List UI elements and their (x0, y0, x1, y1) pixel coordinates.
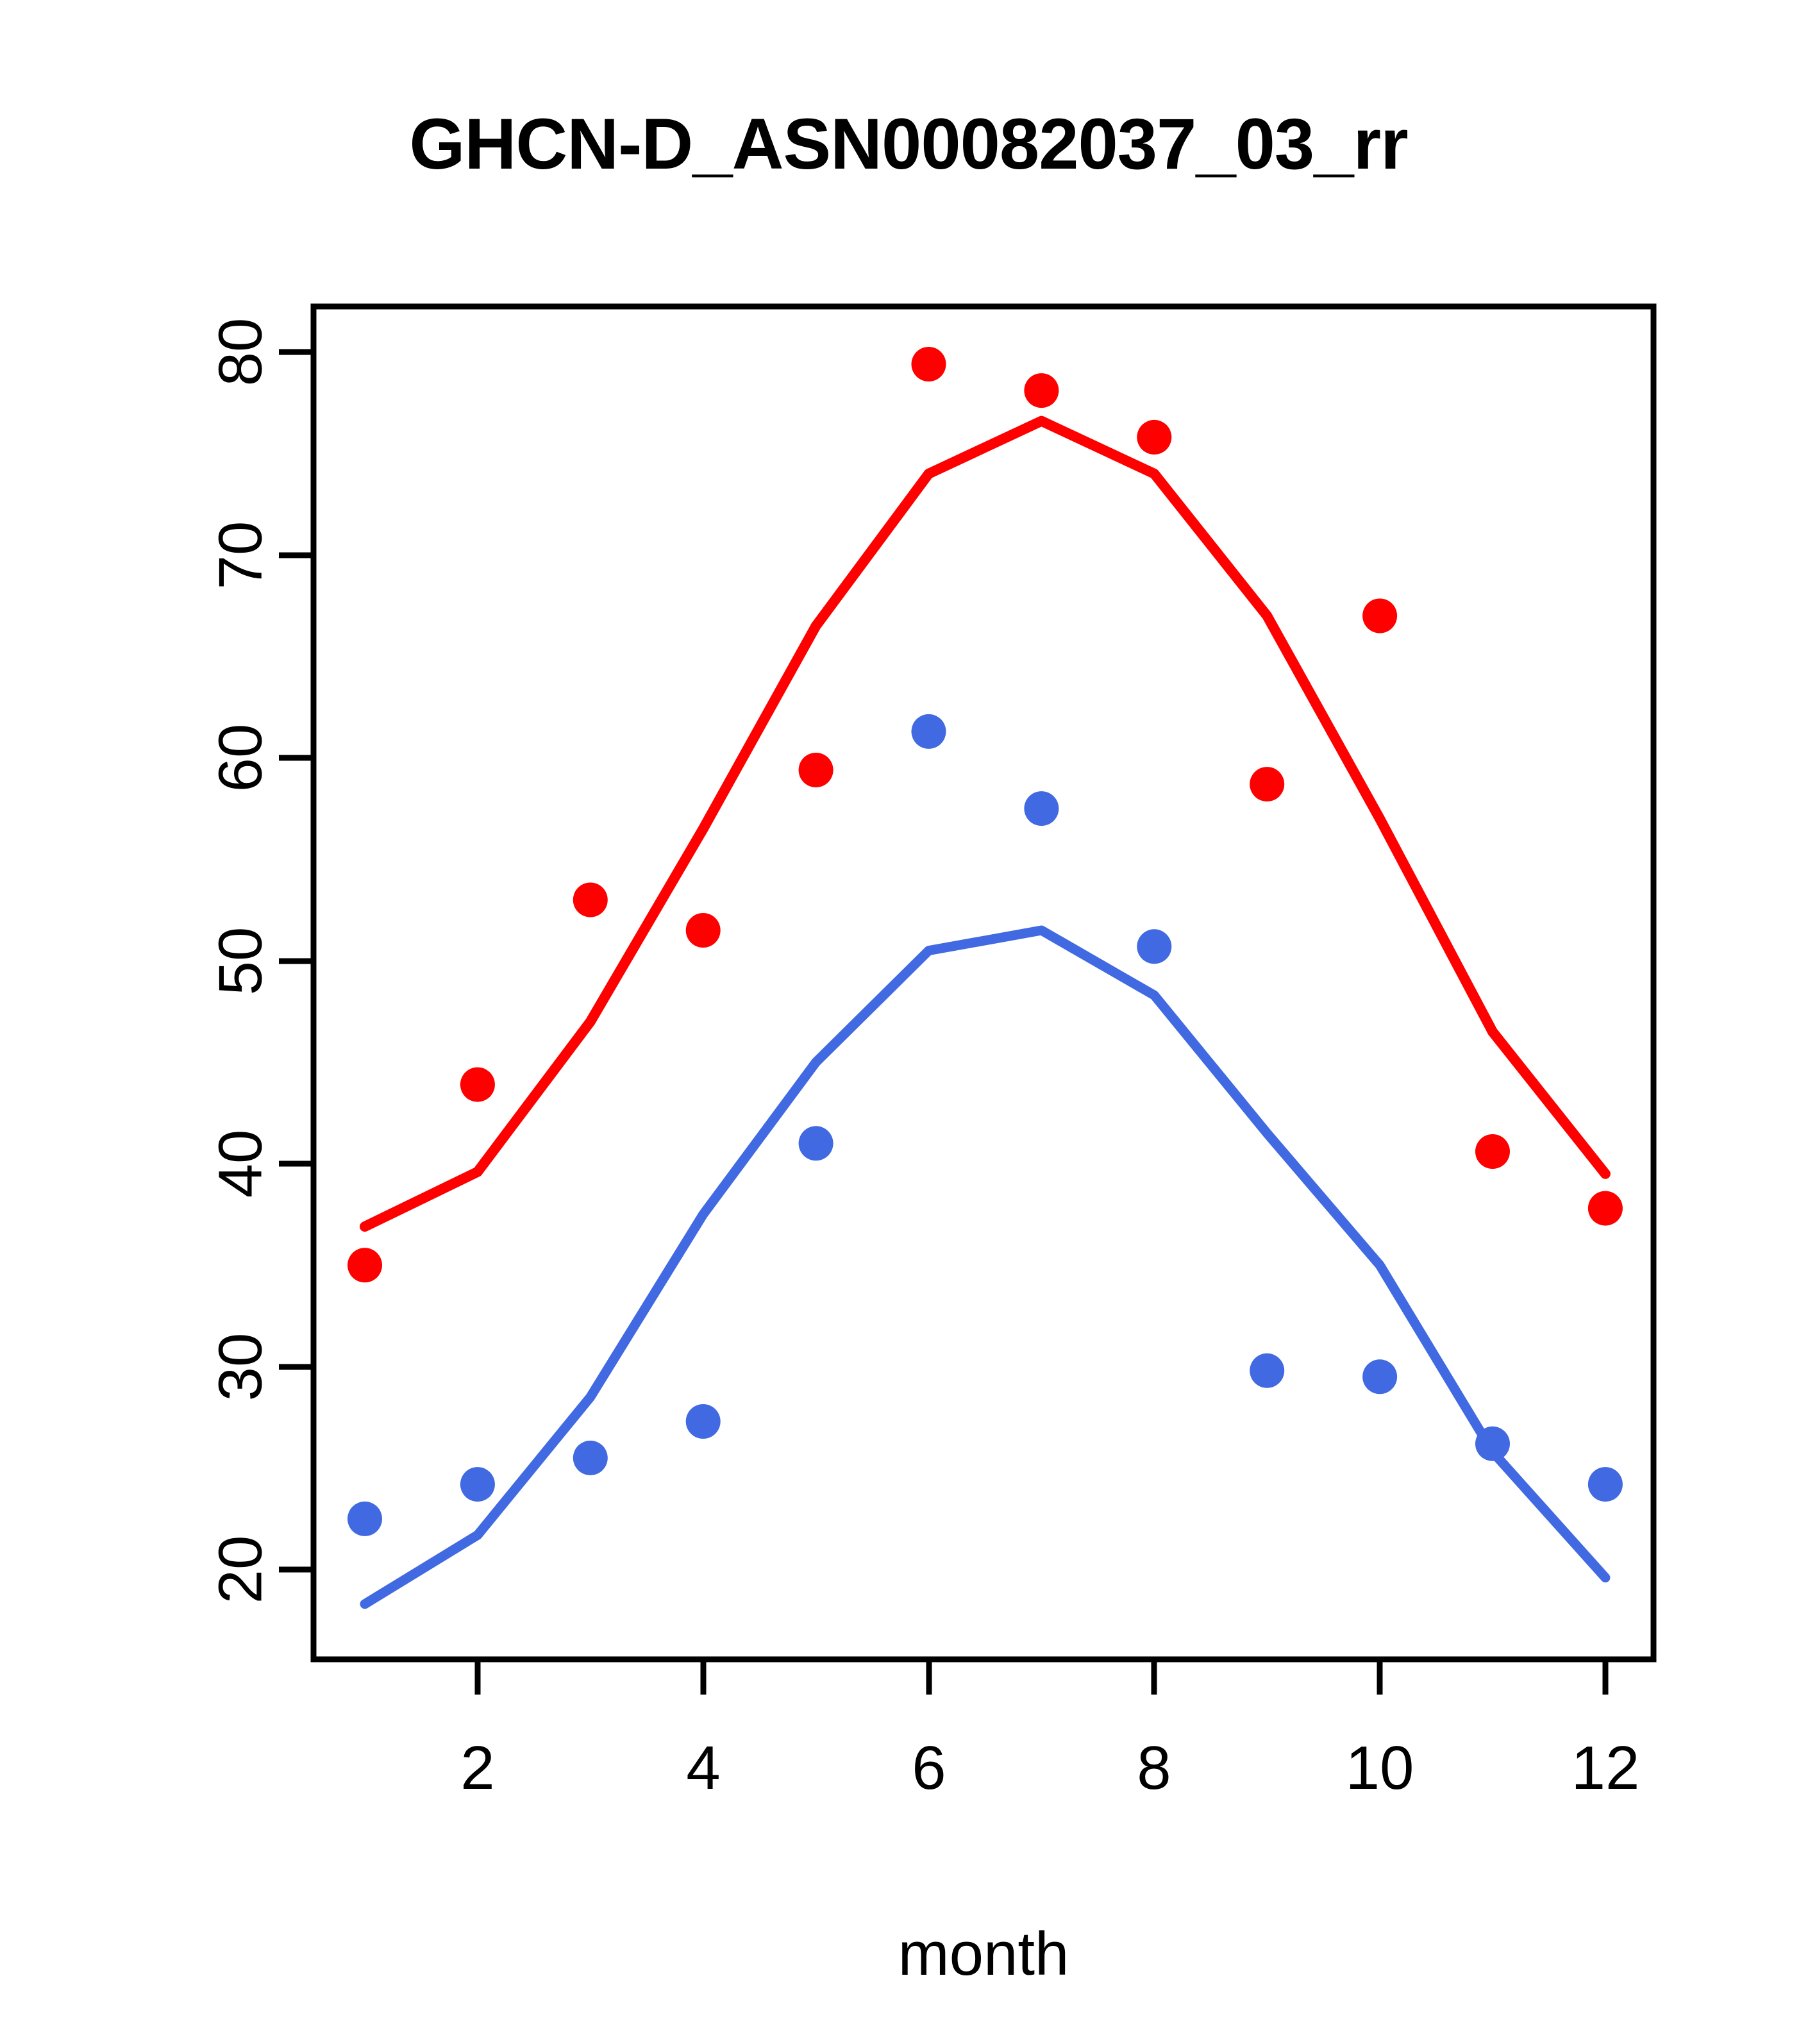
x-axis-ticks (478, 1659, 1605, 1695)
x-tick-label-12: 12 (1571, 1734, 1640, 1802)
blue-points-month-9 (1250, 1353, 1284, 1388)
blue-points-month-2 (460, 1467, 495, 1502)
blue-points-month-1 (347, 1502, 382, 1536)
red-points-month-3 (573, 883, 608, 917)
y-tick-label-20: 20 (206, 1536, 275, 1604)
red-points-month-6 (912, 347, 946, 381)
x-tick-label-6: 6 (912, 1734, 946, 1802)
blue-points-month-11 (1475, 1427, 1510, 1461)
chart-page: GHCN-D_ASN00082037_03_rr 80 70 60 50 40 … (0, 0, 1817, 2044)
blue-points-month-4 (686, 1404, 721, 1439)
red-points (347, 347, 1623, 1282)
red-points-month-7 (1024, 373, 1059, 408)
x-tick-label-10: 10 (1346, 1734, 1414, 1802)
red-points-month-10 (1362, 599, 1397, 633)
red-points-month-12 (1588, 1191, 1623, 1226)
red-points-month-2 (460, 1068, 495, 1102)
red-points-month-5 (799, 753, 833, 787)
blue-points-month-7 (1024, 791, 1059, 826)
red-points-month-11 (1475, 1134, 1510, 1169)
blue-line (365, 930, 1605, 1604)
data-series-layer (347, 347, 1623, 1604)
red-points-month-9 (1250, 767, 1284, 801)
x-axis-tick-labels: 2 4 6 8 10 12 (460, 1734, 1639, 1802)
x-tick-label-8: 8 (1137, 1734, 1171, 1802)
y-tick-label-40: 40 (206, 1130, 275, 1198)
red-line (365, 421, 1605, 1227)
y-tick-label-60: 60 (206, 724, 275, 792)
red-points-month-8 (1137, 420, 1171, 455)
blue-points (347, 714, 1623, 1536)
x-tick-label-4: 4 (686, 1734, 720, 1802)
y-tick-label-50: 50 (206, 927, 275, 996)
red-points-month-1 (347, 1248, 382, 1282)
blue-points-month-8 (1137, 929, 1171, 964)
blue-points-month-10 (1362, 1359, 1397, 1394)
x-tick-label-2: 2 (460, 1734, 494, 1802)
y-tick-label-30: 30 (206, 1333, 275, 1402)
blue-points-month-12 (1588, 1467, 1623, 1502)
blue-points-month-6 (912, 714, 946, 749)
plot-box-border (314, 306, 1654, 1659)
blue-points-month-3 (573, 1441, 608, 1475)
y-tick-label-80: 80 (206, 318, 275, 387)
y-axis-ticks (279, 352, 314, 1570)
x-axis-title: month (898, 1920, 1069, 1988)
plot-area: 80 70 60 50 40 30 20 2 4 6 8 10 12 mont (0, 0, 1817, 2044)
blue-points-month-5 (799, 1126, 833, 1160)
red-points-month-4 (686, 913, 721, 948)
y-axis-tick-labels: 80 70 60 50 40 30 20 (206, 318, 275, 1604)
y-tick-label-70: 70 (206, 521, 275, 590)
